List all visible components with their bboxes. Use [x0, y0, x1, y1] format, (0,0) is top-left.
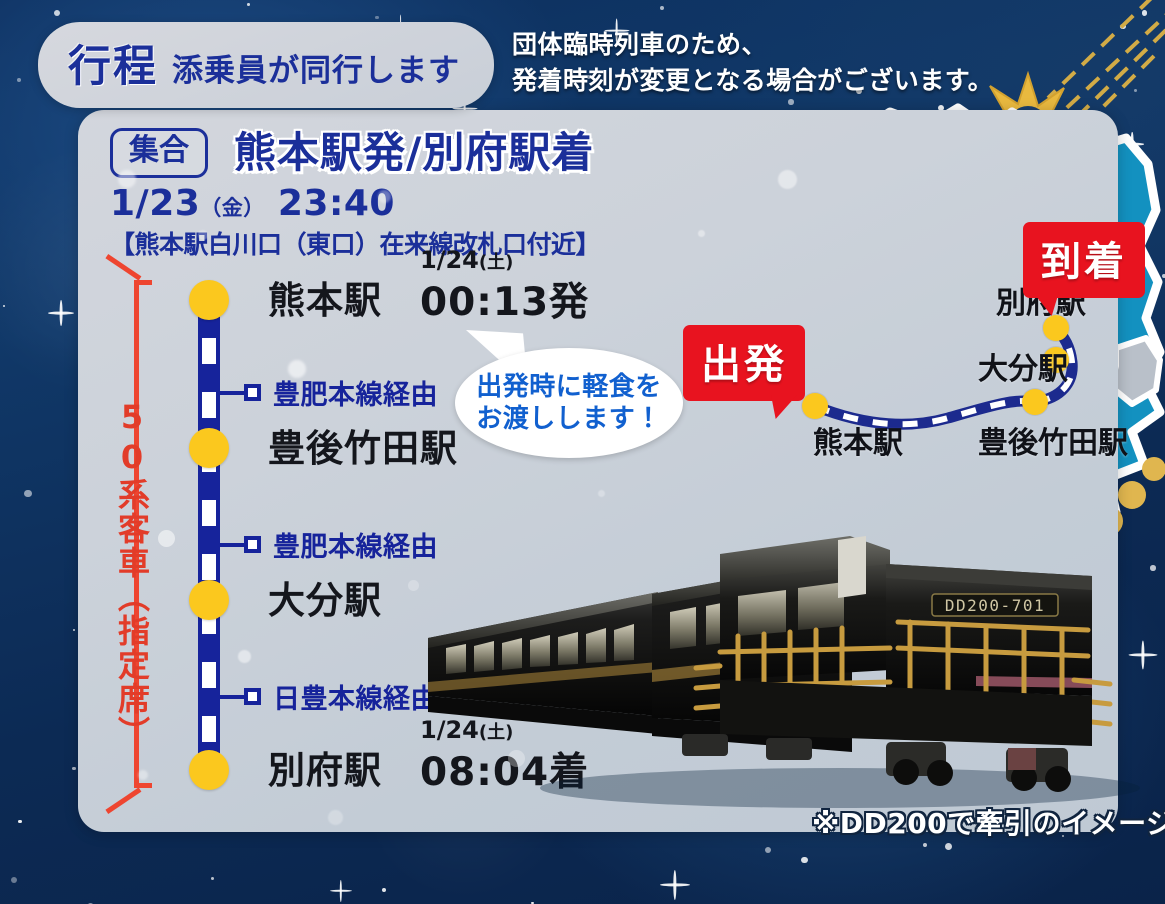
- timeline-stop-bungo-taketa: 豊後竹田駅: [268, 418, 458, 472]
- train-image-caption: ※DD200で牽引のイメージ: [812, 802, 1165, 842]
- via-stem-1: [218, 391, 244, 395]
- star-dot: [382, 888, 386, 892]
- star-dot: [375, 16, 379, 20]
- timeline-dot-oita: [189, 580, 229, 620]
- timeline-via-1: 豊肥本線経由: [218, 373, 438, 412]
- bubble-line-2: お渡しします！: [476, 403, 662, 436]
- timeline-via-2: 豊肥本線経由: [218, 525, 438, 564]
- timeline-time-kumamoto: 00:13発: [420, 271, 589, 327]
- panel-sparkle: [378, 190, 391, 203]
- bubble-line-1: 出発時に軽食を: [476, 371, 662, 404]
- sparkle-icon: [330, 880, 352, 902]
- panel-sparkle: [408, 580, 419, 591]
- timeline-stop-oita: 大分駅: [268, 570, 382, 624]
- panel-sparkle: [328, 810, 343, 825]
- route-title: 熊本駅発/別府駅着: [234, 132, 594, 174]
- panel-sparkle: [198, 230, 208, 240]
- via-label-2: 豊肥本線経由: [273, 525, 438, 564]
- timeline-via-3: 日豊本線経由: [218, 677, 438, 716]
- meeting-info-block: 集合 熊本駅発/別府駅着 1/23（金） 23:40 【熊本駅白川口（東口）在来…: [110, 128, 710, 261]
- map-dot-kumamoto: [802, 393, 828, 419]
- via-marker-2: [244, 536, 261, 553]
- panel-sparkle: [118, 170, 136, 188]
- meeting-time: 23:40: [278, 183, 395, 224]
- section-header-pill: 行程 添乗員が同行します: [38, 22, 494, 108]
- section-subtitle: 添乗員が同行します: [172, 45, 460, 90]
- schedule-notice: 団体臨時列車のため、 発着時刻が変更となる場合がございます。: [512, 27, 993, 98]
- panel-sparkle: [778, 170, 797, 189]
- panel-sparkle: [288, 360, 306, 378]
- panel-sparkle: [238, 650, 251, 663]
- star-dot: [72, 767, 76, 771]
- panel-sparkle: [138, 770, 148, 780]
- depart-badge-label: 出発: [701, 342, 787, 388]
- sparkle-icon: [660, 870, 690, 900]
- via-label-1: 豊肥本線経由: [273, 373, 438, 412]
- timeline-dow-kumamoto: (土): [479, 252, 513, 273]
- train-photo: DD200-701: [420, 520, 1140, 820]
- poster-canvas: 熊本駅 豊後竹田駅 大分駅 別府駅 出発 到着 集合 熊本駅発/別府駅着 1/2…: [0, 0, 1165, 904]
- car-class-label: 50系客車（指定席）: [102, 398, 148, 750]
- timeline-dot-beppu: [189, 750, 229, 790]
- star-dot: [24, 490, 32, 498]
- star-dot: [247, 3, 250, 6]
- star-dot: [660, 6, 664, 10]
- via-stem-3: [218, 695, 244, 699]
- timeline-track: [198, 292, 220, 784]
- via-stem-2: [218, 543, 244, 547]
- via-label-3: 日豊本線経由: [273, 677, 438, 716]
- panel-sparkle: [158, 530, 175, 547]
- timeline-stop-beppu: 別府駅: [268, 740, 382, 794]
- meeting-title-row: 集合 熊本駅発/別府駅着: [110, 128, 710, 178]
- star-dot: [54, 10, 60, 16]
- notice-line-2: 発着時刻が変更となる場合がございます。: [512, 63, 993, 99]
- meeting-datetime: 1/23（金） 23:40: [110, 184, 710, 224]
- via-marker-3: [244, 688, 261, 705]
- car-class-bracket: 50系客車（指定席）: [106, 280, 152, 788]
- meeting-dow: （金）: [200, 196, 265, 220]
- star-dot: [3, 305, 5, 307]
- star-dot: [18, 820, 22, 824]
- map-dot-bungo-taketa: [1022, 389, 1048, 415]
- via-marker-1: [244, 384, 261, 401]
- timeline-dot-kumamoto: [189, 280, 229, 320]
- timeline-stop-kumamoto: 熊本駅: [268, 270, 382, 324]
- svg-text:DD200-701: DD200-701: [945, 596, 1045, 615]
- timeline-date-kumamoto-value: 1/24: [420, 246, 479, 274]
- notice-line-1: 団体臨時列車のため、: [512, 27, 993, 63]
- map-label-kumamoto: 熊本駅: [813, 418, 903, 462]
- star-dot: [17, 78, 21, 82]
- section-title: 行程: [68, 32, 158, 94]
- sparkle-icon: [48, 300, 74, 326]
- arrive-badge-label: 到着: [1041, 239, 1127, 285]
- timeline-dot-bungo-taketa: [189, 428, 229, 468]
- snack-speech-bubble: 出発時に軽食を お渡しします！: [455, 348, 683, 458]
- depart-badge: 出発: [683, 325, 805, 401]
- panel-sparkle: [548, 290, 555, 297]
- timeline-date-kumamoto: 1/24(土): [420, 246, 513, 274]
- arrive-badge: 到着: [1023, 222, 1145, 298]
- map-label-bungo-taketa: 豊後竹田駅: [978, 418, 1128, 462]
- map-label-oita: 大分駅: [978, 344, 1068, 388]
- meeting-date: 1/23: [110, 183, 200, 224]
